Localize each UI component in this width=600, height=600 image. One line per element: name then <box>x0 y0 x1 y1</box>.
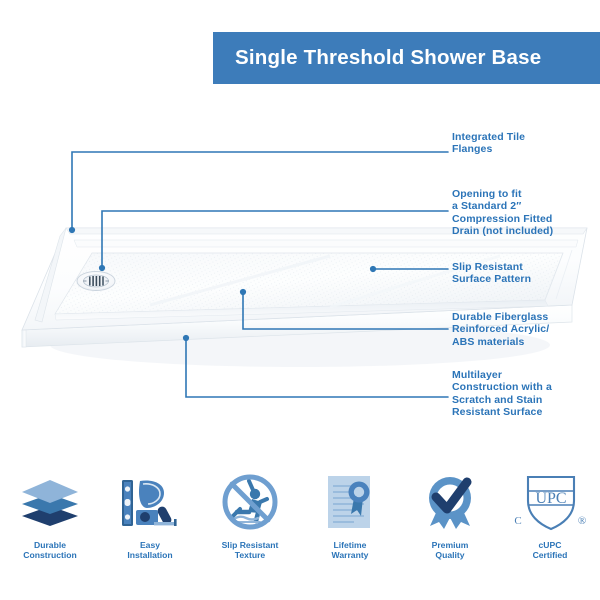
drain-cover-icon <box>77 272 115 291</box>
feature-premium-quality: Premium Quality <box>400 470 500 590</box>
callout-integrated-tile-flanges: Integrated Tile Flanges <box>452 131 525 156</box>
certificate-ribbon-icon <box>309 470 391 534</box>
callout-durable-fiberglass: Durable Fiberglass Reinforced Acrylic/ A… <box>452 311 549 348</box>
base-left-face <box>22 330 26 347</box>
feature-lifetime-warranty: Lifetime Warranty <box>300 470 400 590</box>
feature-easy-installation: Easy Installation <box>100 470 200 590</box>
upc-shield-icon: UPC C ® <box>509 470 591 534</box>
callout-multilayer-construction: Multilayer Construction with a Scratch a… <box>452 369 552 419</box>
shield-center-text: UPC <box>535 490 566 507</box>
shield-right-text: ® <box>578 515 586 527</box>
feature-label: Premium Quality <box>432 540 469 561</box>
threshold-moulding <box>74 240 578 247</box>
feature-cupc-certified: UPC C ® cUPC Certified <box>500 470 600 590</box>
callout-slip-resistant-surface: Slip Resistant Surface Pattern <box>452 261 531 286</box>
shield-left-text: C <box>514 515 521 527</box>
stacked-layers-icon <box>9 470 91 534</box>
callout-drain-opening: Opening to fit a Standard 2″ Compression… <box>452 188 553 238</box>
no-slip-prohibition-icon <box>209 470 291 534</box>
tools-level-trowel-icon <box>109 470 191 534</box>
leader-line-integrated-tile-flanges <box>72 152 448 230</box>
feature-durable-construction: Durable Construction <box>0 470 100 590</box>
infographic-canvas: Single Threshold Shower Base <box>0 0 600 600</box>
feature-label: Lifetime Warranty <box>332 540 369 561</box>
feature-label: Durable Construction <box>23 540 76 561</box>
feature-slip-resistant-texture: Slip Resistant Texture <box>200 470 300 590</box>
feature-label: Easy Installation <box>127 540 172 561</box>
feature-label: cUPC Certified <box>533 540 568 561</box>
feature-badges-row: Durable Construction <box>0 470 600 590</box>
feature-label: Slip Resistant Texture <box>222 540 279 561</box>
rosette-checkmark-icon <box>409 470 491 534</box>
